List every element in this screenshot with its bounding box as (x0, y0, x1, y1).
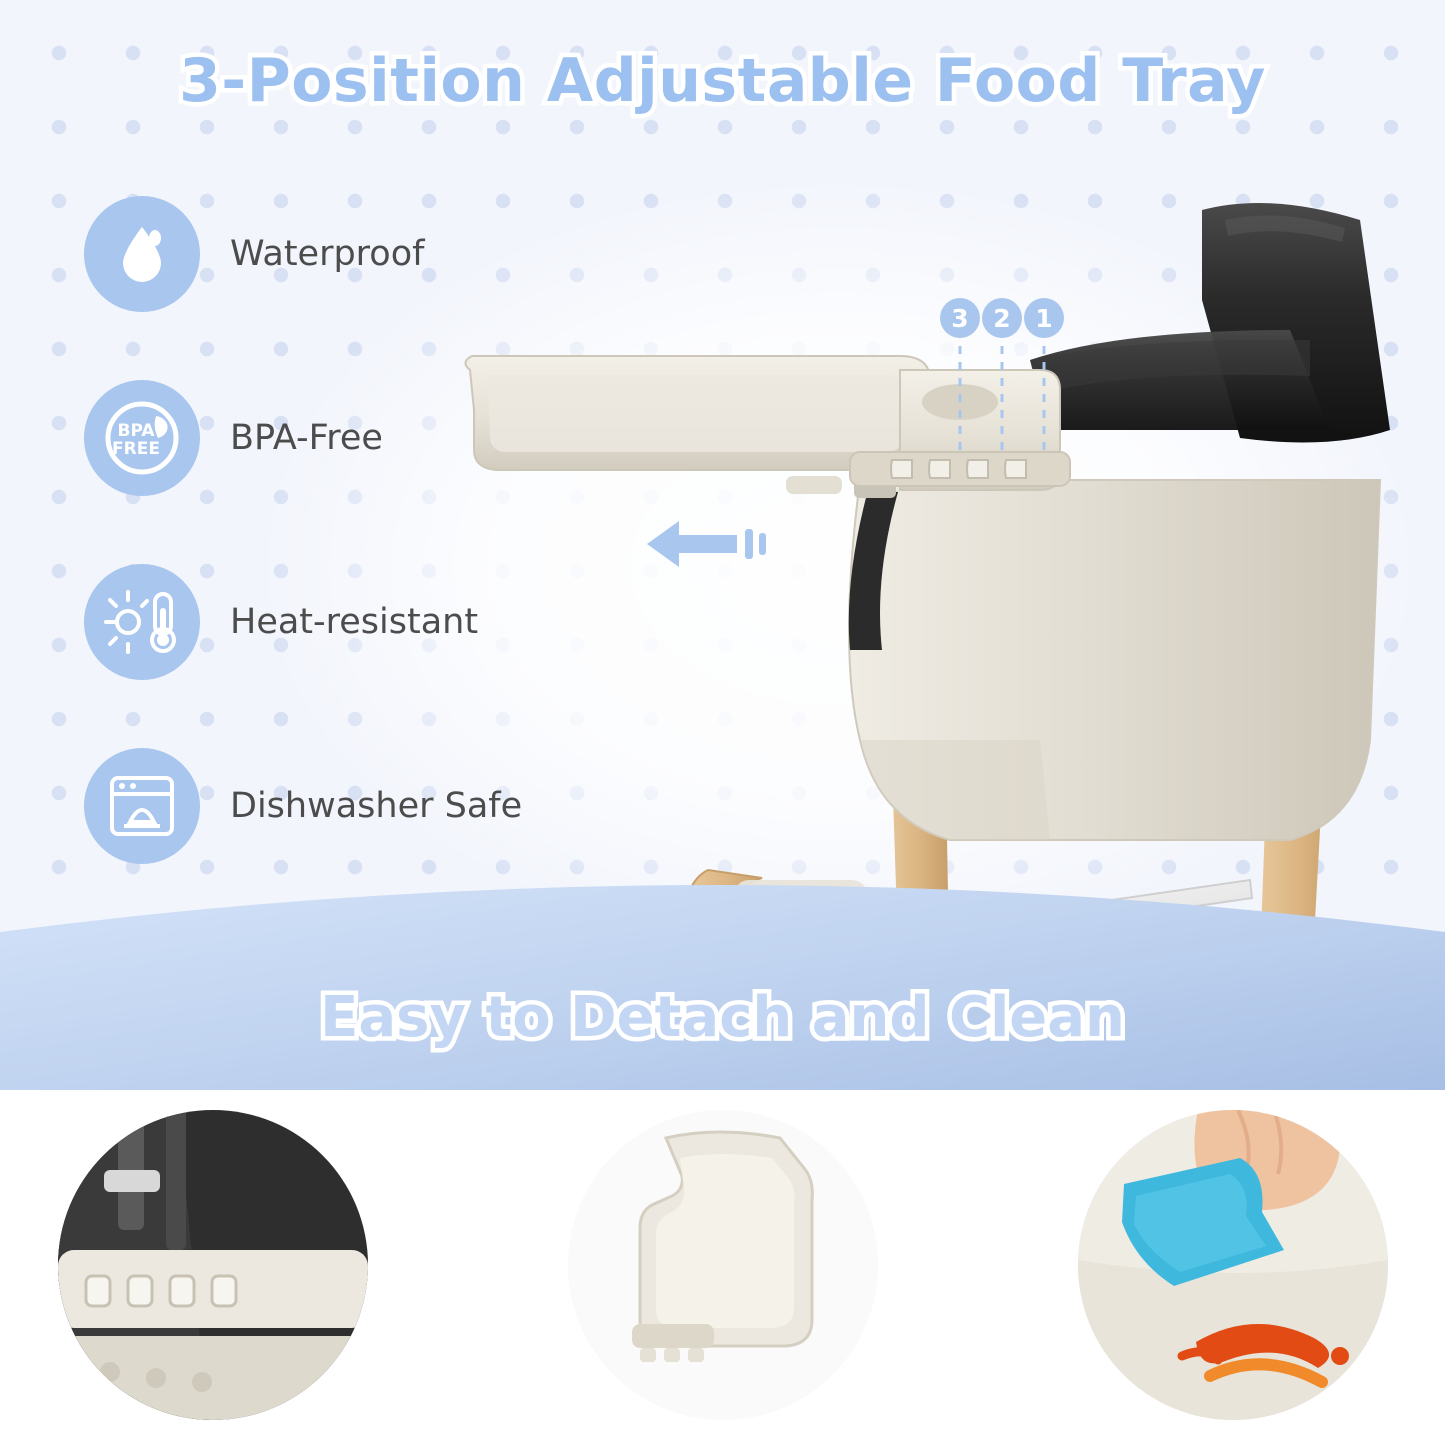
feature-label: Waterproof (230, 234, 424, 274)
callout-number-2: 2 (982, 298, 1022, 338)
svg-text:FREE: FREE (112, 439, 160, 459)
feature-list: Waterproof BPA FREE BPA-Free (84, 196, 604, 864)
seat-cushion (1030, 203, 1390, 443)
band-title: Easy to Detach and Clean (0, 985, 1445, 1050)
feature-dishwasher-safe: Dishwasher Safe (84, 748, 604, 864)
callout-number-3: 3 (940, 298, 980, 338)
feature-label: Dishwasher Safe (230, 786, 522, 826)
callout-number-1: 1 (1024, 298, 1064, 338)
bpa-free-icon: BPA FREE (84, 380, 200, 496)
bottom-photo-strip (0, 1090, 1445, 1445)
feature-label: BPA-Free (230, 418, 383, 458)
left-arrow-icon (645, 515, 775, 573)
chair-shell (849, 480, 1380, 840)
thermometer-sun-icon (84, 564, 200, 680)
tray-latch-closeup-photo (58, 1110, 368, 1420)
dishwasher-icon (84, 748, 200, 864)
detached-tray-photo (568, 1110, 878, 1420)
page-title: 3-Position Adjustable Food Tray (0, 46, 1445, 116)
wiping-tray-photo (1078, 1110, 1388, 1420)
svg-text:BPA: BPA (117, 421, 155, 441)
water-drop-icon (84, 196, 200, 312)
feature-heat-resistant: Heat-resistant (84, 564, 604, 680)
feature-waterproof: Waterproof (84, 196, 604, 312)
feature-bpa-free: BPA FREE BPA-Free (84, 380, 604, 496)
feature-label: Heat-resistant (230, 602, 478, 642)
hero-panel: 3 2 1 3-Position Adjustable Food Tray Wa… (0, 0, 1445, 1090)
